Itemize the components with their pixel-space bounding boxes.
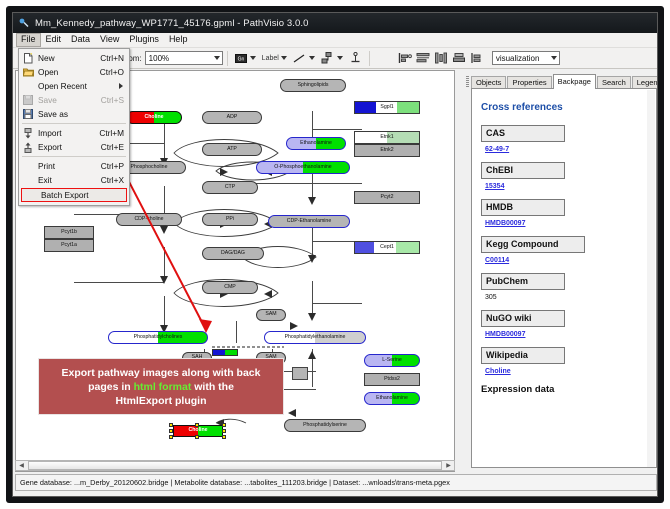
- annotation-line2-b: with the: [191, 381, 234, 393]
- resize-handle-w[interactable]: [169, 429, 173, 433]
- xref-db-wikipedia: Wikipedia: [481, 347, 565, 364]
- interaction-icon[interactable]: [320, 51, 336, 66]
- xref-db-chebi: ChEBI: [481, 162, 565, 179]
- xref-db-hmdb: HMDB: [481, 199, 565, 216]
- resize-handle-e[interactable]: [222, 429, 226, 433]
- menu-item-open-recent[interactable]: Open Recent: [19, 79, 129, 93]
- genes-datanode-icon[interactable]: Gn: [233, 51, 249, 66]
- datanode-dropdown-arrow-icon[interactable]: [250, 56, 256, 60]
- xref-value-nugo[interactable]: HMDB00097: [485, 331, 647, 338]
- line-dropdown-arrow-icon[interactable]: [309, 56, 315, 60]
- file-menu-dropdown[interactable]: New Ctrl+N Open Ctrl+O Open Recent Save: [18, 48, 130, 206]
- menu-plugins[interactable]: Plugins: [124, 33, 164, 47]
- menu-item-save-as[interactable]: Save as: [19, 107, 129, 121]
- expression-data-title: Expression data: [481, 384, 647, 395]
- menu-item-new[interactable]: New Ctrl+N: [19, 51, 129, 65]
- visualization-value: visualization: [496, 54, 540, 63]
- menu-help[interactable]: Help: [164, 33, 193, 47]
- node-phosphatidylcholines[interactable]: Phosphatidylcholines: [108, 331, 208, 344]
- anchor-icon[interactable]: [348, 51, 364, 66]
- blank-icon: [21, 80, 35, 92]
- expression-block: [212, 349, 238, 356]
- node-ethanolamine-bottom[interactable]: Ethanolamine: [364, 392, 420, 405]
- resize-handle-s[interactable]: [195, 435, 199, 439]
- cross-references-title: Cross references: [481, 102, 647, 113]
- backpage-panel: Cross references CAS 62-49-7 ChEBI 15354…: [471, 88, 657, 468]
- node-phosphatidylethanolamine[interactable]: Phosphatidylethanolamine: [264, 331, 366, 344]
- annotation-callout: Export pathway images along with back pa…: [38, 358, 284, 415]
- xref-db-nugo: NuGO wiki: [481, 310, 565, 327]
- tab-properties[interactable]: Properties: [507, 76, 551, 90]
- node-dag-dag[interactable]: DAG/DAG: [202, 247, 264, 260]
- node-cdp-choline[interactable]: CDP-choline: [116, 213, 182, 226]
- save-as-icon: [21, 108, 35, 120]
- node-o-phosphoethanolamine[interactable]: O-Phosphoethanolamine: [256, 161, 350, 174]
- node-phosphatidylserine[interactable]: Phosphatidylserine: [284, 419, 366, 432]
- tab-search[interactable]: Search: [597, 76, 631, 90]
- screenshot-root: Mm_Kennedy_pathway_WP1771_45176.gpml - P…: [0, 0, 670, 509]
- import-icon: [21, 127, 35, 139]
- resize-handle-n[interactable]: [195, 423, 199, 427]
- node-ptdss2[interactable]: Ptdss2: [364, 373, 420, 386]
- align-left-icon[interactable]: [397, 51, 413, 66]
- blank-icon: [24, 189, 38, 201]
- menu-data[interactable]: Data: [66, 33, 95, 47]
- menu-item-save: Save Ctrl+S: [19, 93, 129, 107]
- canvas-horizontal-scrollbar[interactable]: ◀ ▶: [15, 460, 455, 471]
- xref-db-cas: CAS: [481, 125, 565, 142]
- tab-objects[interactable]: Objects: [471, 76, 506, 90]
- annotation-line2-a: pages in: [88, 381, 134, 393]
- interaction-dropdown-arrow-icon[interactable]: [337, 56, 343, 60]
- xref-db-pubchem: PubChem: [481, 273, 565, 290]
- node-pcyt2[interactable]: Pcyt2: [354, 191, 420, 204]
- node-etnk2[interactable]: Etnk2: [354, 144, 420, 157]
- node-pcyt1a[interactable]: Pcyt1a: [44, 239, 94, 252]
- resize-handle-se[interactable]: [222, 435, 226, 439]
- submenu-arrow-icon: [119, 83, 123, 89]
- label-dropdown-arrow-icon[interactable]: [281, 56, 287, 60]
- menu-item-open[interactable]: Open Ctrl+O: [19, 65, 129, 79]
- scrollbar-thumb[interactable]: [28, 461, 442, 470]
- node-cmp[interactable]: CMP: [202, 281, 258, 294]
- toolbar-separator-2: [369, 51, 370, 66]
- resize-handle-ne[interactable]: [222, 423, 226, 427]
- annotation-line1: Export pathway images along with back: [62, 367, 261, 379]
- visualization-combo[interactable]: visualization: [492, 51, 560, 65]
- xref-value-cas[interactable]: 62-49-7: [485, 146, 647, 153]
- node-etnk1[interactable]: Etnk1: [354, 131, 420, 144]
- pathvisio-window: Mm_Kennedy_pathway_WP1771_45176.gpml - P…: [12, 12, 658, 497]
- new-file-icon: [21, 52, 35, 64]
- annotation-line3: HtmlExport plugin: [116, 395, 207, 407]
- xref-value-pubchem: 305: [485, 294, 647, 301]
- align-columns-icon[interactable]: [433, 51, 449, 66]
- panel-gripper[interactable]: [466, 76, 469, 88]
- panel-tabstrip: Objects Properties Backpage Search Legen…: [471, 75, 657, 89]
- anchor-block[interactable]: [292, 367, 308, 380]
- blank-icon: [21, 160, 35, 172]
- window-title: Mm_Kennedy_pathway_WP1771_45176.gpml - P…: [35, 18, 309, 29]
- node-cdp-ethanolamine[interactable]: CDP-Ethanolamine: [268, 215, 350, 228]
- tab-legend[interactable]: Legend: [632, 76, 658, 90]
- node-sgpl1[interactable]: Sgpl1: [354, 101, 420, 114]
- node-sphingolipids[interactable]: Sphingolipids: [280, 79, 346, 92]
- blank-icon: [21, 174, 35, 186]
- menu-separator-2: [22, 156, 126, 157]
- svg-text:Gn: Gn: [237, 56, 244, 62]
- statusbar: Gene database: ...m_Derby_20120602.bridg…: [15, 474, 657, 491]
- folder-icon: [21, 66, 35, 78]
- scroll-left-icon[interactable]: ◀: [16, 461, 27, 470]
- node-adp[interactable]: ADP: [202, 111, 262, 124]
- menu-item-exit[interactable]: Exit Ctrl+X: [19, 173, 129, 187]
- menu-item-import[interactable]: Import Ctrl+M: [19, 126, 129, 140]
- xref-value-wikipedia[interactable]: Choline: [485, 368, 647, 375]
- statusbar-text: Gene database: ...m_Derby_20120602.bridg…: [20, 478, 450, 487]
- menu-view[interactable]: View: [95, 33, 124, 47]
- node-pcyt1b[interactable]: Pcyt1b: [44, 226, 94, 239]
- menu-item-export[interactable]: Export Ctrl+E: [19, 140, 129, 154]
- menubar: File Edit Data View Plugins Help: [13, 33, 658, 48]
- zoom-combo[interactable]: 100%: [145, 51, 223, 65]
- pathvisio-icon: [18, 17, 30, 29]
- resize-handle-sw[interactable]: [169, 435, 173, 439]
- label-button[interactable]: Label: [262, 55, 279, 62]
- menu-edit[interactable]: Edit: [41, 33, 67, 47]
- menu-file[interactable]: File: [16, 33, 41, 47]
- annotation-highlight: html format: [134, 381, 192, 393]
- side-panel: Objects Properties Backpage Search Legen…: [463, 70, 657, 472]
- export-icon: [21, 141, 35, 153]
- xref-value-hmdb[interactable]: HMDB00097: [485, 220, 647, 227]
- chevron-down-icon: [214, 56, 220, 60]
- node-l-serine[interactable]: L-Serine: [364, 354, 420, 367]
- window-titlebar: Mm_Kennedy_pathway_WP1771_45176.gpml - P…: [13, 13, 658, 33]
- tab-backpage[interactable]: Backpage: [553, 74, 596, 90]
- xref-value-chebi[interactable]: 15354: [485, 183, 647, 190]
- node-ethanolamine-top[interactable]: Ethanolamine: [286, 137, 346, 150]
- resize-handle-nw[interactable]: [169, 423, 173, 427]
- align-rows-icon[interactable]: [415, 51, 431, 66]
- scroll-right-icon[interactable]: ▶: [443, 461, 454, 470]
- node-choline-top[interactable]: Choline: [126, 111, 182, 124]
- xref-db-kegg: Kegg Compound: [481, 236, 585, 253]
- save-icon: [21, 94, 35, 106]
- line-icon[interactable]: [292, 51, 308, 66]
- toolbar-separator: [227, 51, 228, 66]
- chevron-down-icon: [551, 56, 557, 60]
- selected-node-group[interactable]: Choline: [169, 423, 227, 439]
- node-ppi[interactable]: PPi: [202, 213, 258, 226]
- node-ctp[interactable]: CTP: [202, 181, 258, 194]
- stack-icon[interactable]: [451, 51, 467, 66]
- menu-item-print[interactable]: Print Ctrl+P: [19, 159, 129, 173]
- xref-value-kegg[interactable]: C00114: [485, 257, 647, 264]
- node-cept1[interactable]: Cept1: [354, 241, 420, 254]
- node-sam-upper[interactable]: SAM: [256, 309, 286, 321]
- zoom-value: 100%: [149, 54, 169, 63]
- node-atp[interactable]: ATP: [202, 143, 262, 156]
- group-icon[interactable]: [469, 51, 485, 66]
- menu-separator-1: [22, 123, 126, 124]
- menu-item-batch-export[interactable]: Batch Export: [21, 188, 127, 202]
